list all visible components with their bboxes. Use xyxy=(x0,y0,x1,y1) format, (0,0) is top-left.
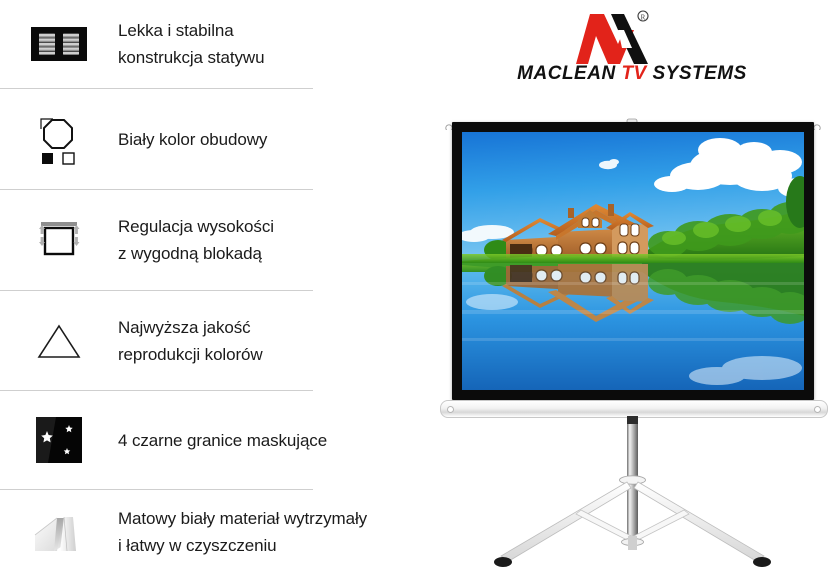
maclean-m-mark-icon: R xyxy=(472,8,792,68)
feature-list: Lekka i stabilna konstrukcja statywu Bia… xyxy=(0,0,420,574)
svg-text:R: R xyxy=(641,14,646,22)
brand-name-tv: TV xyxy=(621,63,646,84)
product-panel: R MACLEAN TV SYSTEMS xyxy=(420,0,836,574)
screen-black-frame xyxy=(452,122,814,400)
screen-projected-image xyxy=(462,132,804,390)
brand-logo: R MACLEAN TV SYSTEMS xyxy=(472,8,792,96)
feature-label: Lekka i stabilna konstrukcja statywu xyxy=(118,17,264,71)
feature-item: Matowy biały materiał wytrzymały i łatwy… xyxy=(0,490,420,574)
feature-item: 4 czarne granice maskujące xyxy=(0,391,420,489)
feature-item: Biały kolor obudowy xyxy=(0,89,420,189)
tripod-stand xyxy=(435,416,831,574)
brand-name-part2: SYSTEMS xyxy=(647,63,747,84)
white-casing-color-icon xyxy=(0,112,118,166)
feature-label: Biały kolor obudowy xyxy=(118,126,267,153)
feature-label: Matowy biały materiał wytrzymały i łatwy… xyxy=(118,505,367,559)
infographic-page: Lekka i stabilna konstrukcja statywu Bia… xyxy=(0,0,836,574)
brand-name-part1: MACLEAN xyxy=(517,63,621,84)
color-quality-triangle-icon xyxy=(0,319,118,363)
black-masking-borders-icon xyxy=(0,417,118,463)
feature-item: Regulacja wysokości z wygodną blokadą xyxy=(0,190,420,290)
feature-item: Lekka i stabilna konstrukcja statywu xyxy=(0,0,420,88)
tripod-legs-icon xyxy=(0,27,118,61)
feature-item: Najwyższa jakość reprodukcji kolorów xyxy=(0,291,420,390)
feature-label: Regulacja wysokości z wygodną blokadą xyxy=(118,213,274,267)
brand-wordmark: MACLEAN TV SYSTEMS xyxy=(472,63,792,85)
feature-label: 4 czarne granice maskujące xyxy=(118,427,327,454)
matte-white-fabric-icon xyxy=(0,507,118,557)
height-adjustment-icon xyxy=(0,215,118,265)
feature-label: Najwyższa jakość reprodukcji kolorów xyxy=(118,314,263,368)
projection-screen xyxy=(435,108,831,418)
